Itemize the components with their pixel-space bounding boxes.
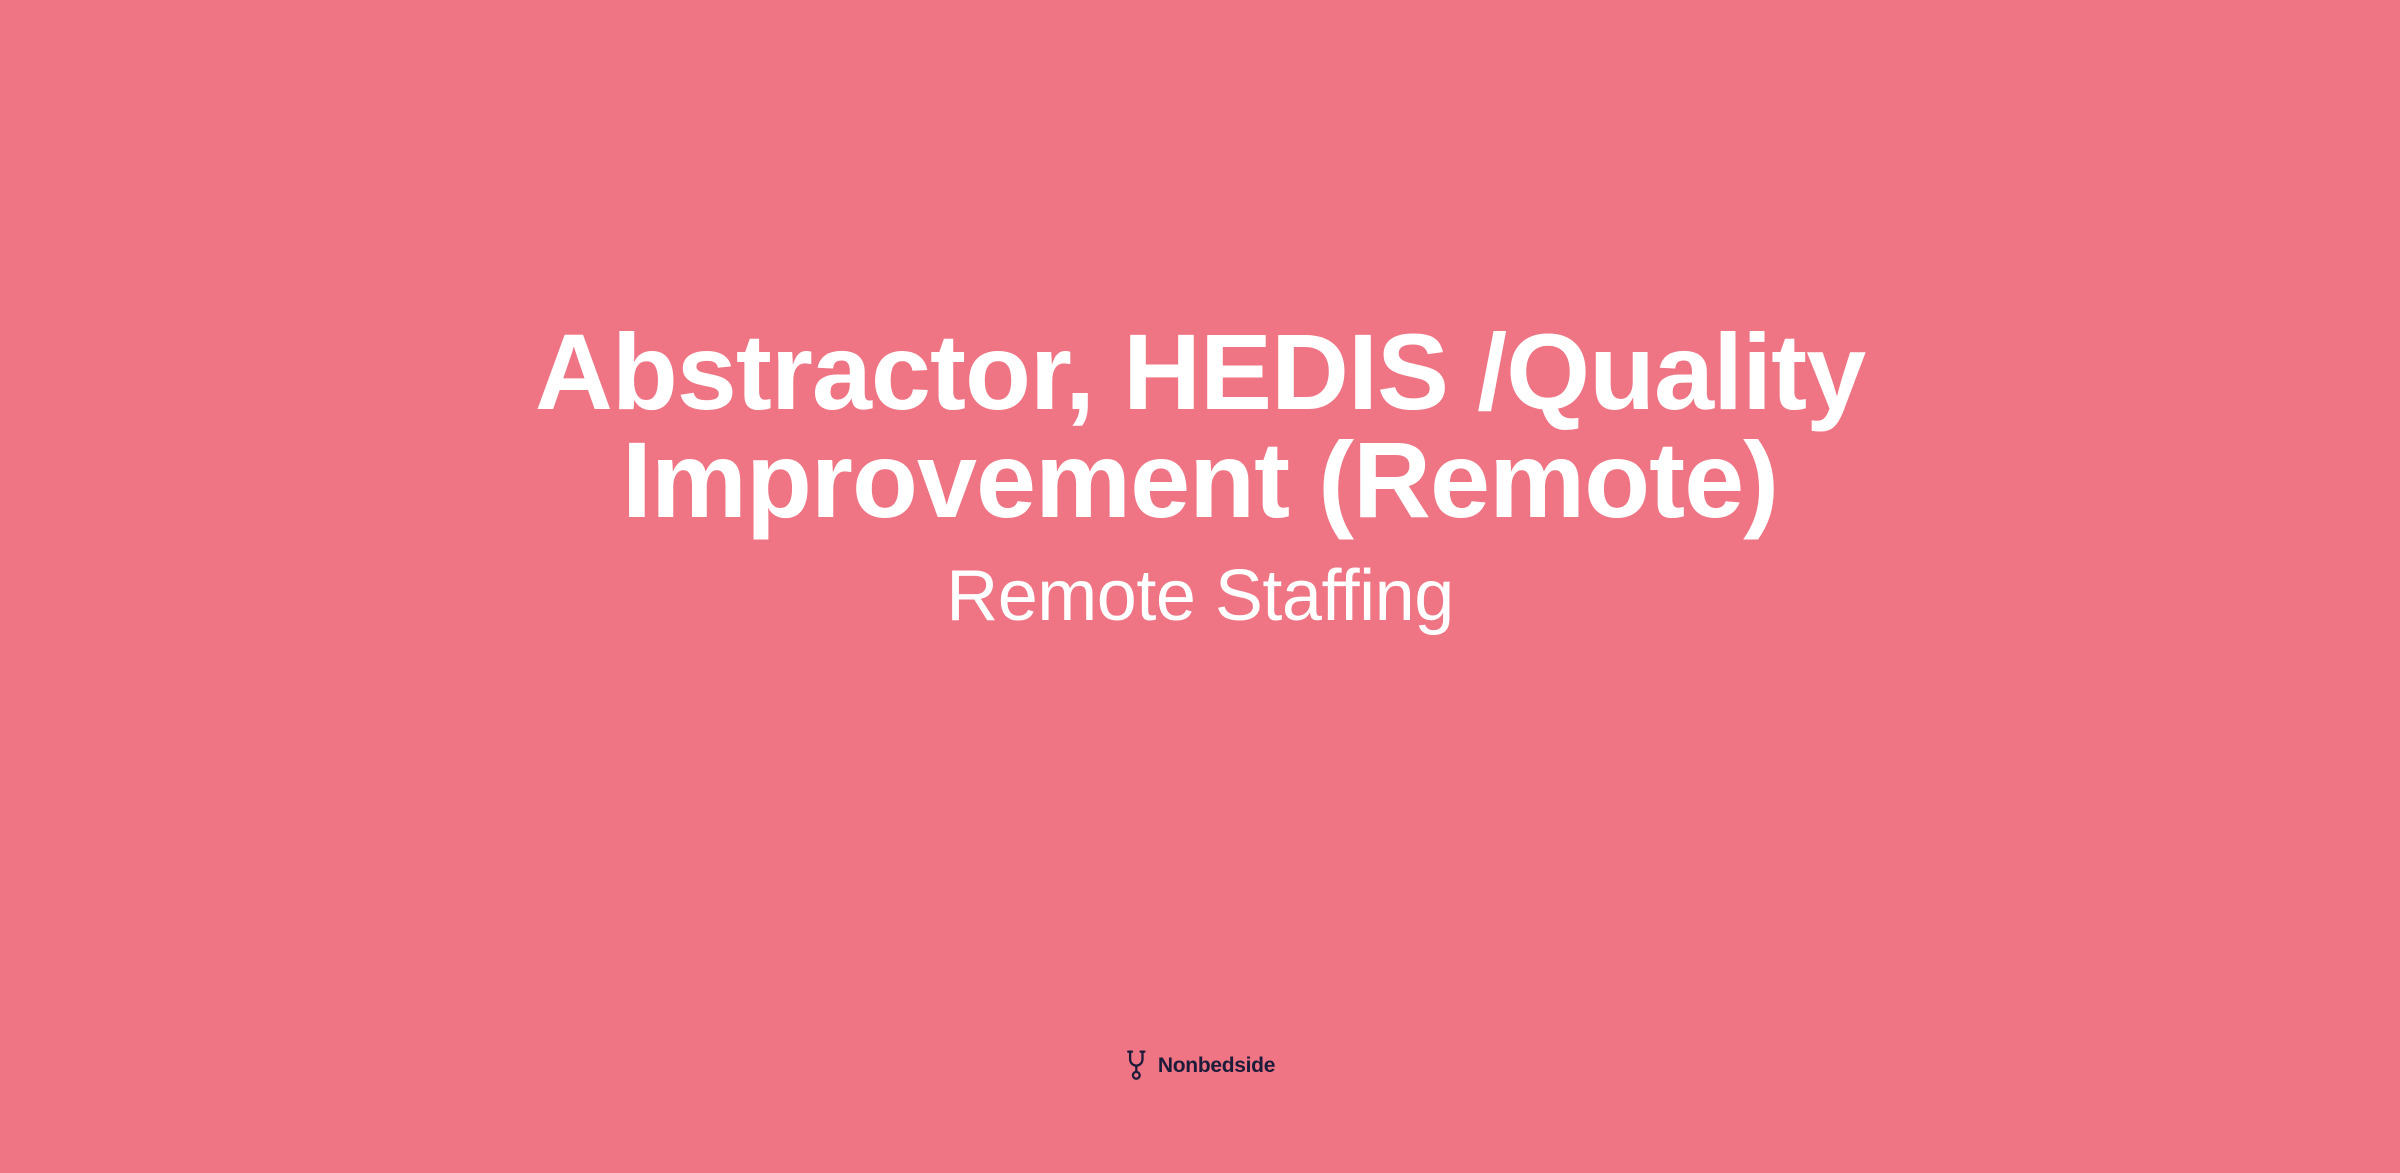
- hero-text-block: Abstractor, HEDIS /Quality Improvement (…: [0, 318, 2400, 632]
- brand-logo: Nonbedside: [1125, 1050, 1275, 1080]
- stethoscope-icon: [1125, 1050, 1151, 1080]
- brand-name: Nonbedside: [1158, 1055, 1275, 1076]
- company-name: Remote Staffing: [946, 560, 1453, 632]
- job-posting-hero: Abstractor, HEDIS /Quality Improvement (…: [0, 0, 2400, 1173]
- page-title: Abstractor, HEDIS /Quality Improvement (…: [450, 318, 1950, 534]
